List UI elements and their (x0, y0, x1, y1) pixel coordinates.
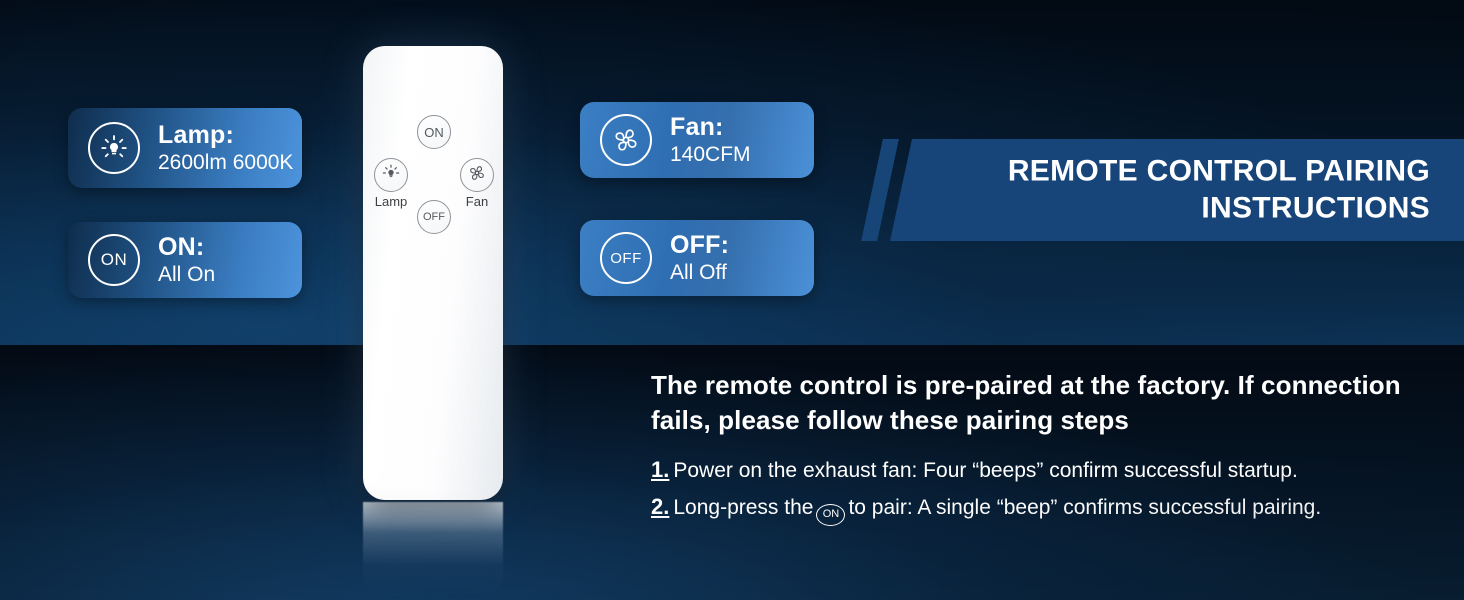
feature-badge-off-text: OFF: All Off (670, 231, 729, 285)
instructions-block: The remote control is pre-paired at the … (651, 368, 1441, 530)
feature-badge-lamp-sub: 2600lm 6000K (158, 151, 293, 175)
page-title-line-1: REMOTE CONTROL PAIRING (890, 153, 1430, 190)
remote-lamp-label: Lamp (360, 194, 422, 209)
remote-on-button[interactable]: ON (417, 115, 451, 149)
step-2-text-before: Long-press the (673, 496, 813, 519)
remote-lamp-button[interactable] (374, 158, 408, 192)
remote-off-button[interactable]: OFF (417, 200, 451, 234)
on-text-icon: ON (88, 234, 140, 286)
page-title-line-2: INSTRUCTIONS (890, 190, 1430, 227)
page-title: REMOTE CONTROL PAIRING INSTRUCTIONS (890, 153, 1430, 226)
feature-badge-fan-sub: 140CFM (670, 143, 751, 167)
remote-reflection (363, 502, 503, 598)
promo-graphic: ON Lamp Fan OFF (0, 0, 1464, 600)
feature-badge-lamp-title: Lamp: (158, 121, 293, 149)
feature-badge-off-sub: All Off (670, 261, 729, 285)
fan-blade-icon (600, 114, 652, 166)
lamp-bulb-icon (88, 122, 140, 174)
step-2-text-after: to pair: A single “beep” confirms succes… (848, 496, 1321, 519)
feature-badge-lamp: Lamp: 2600lm 6000K (68, 108, 302, 188)
feature-badge-on-text: ON: All On (158, 233, 215, 287)
remote-on-button-label: ON (424, 125, 444, 140)
fan-blade-icon (467, 163, 487, 188)
feature-badge-on-title: ON: (158, 233, 215, 261)
feature-badge-fan-title: Fan: (670, 113, 751, 141)
feature-badge-off-title: OFF: (670, 231, 729, 259)
feature-badge-fan-text: Fan: 140CFM (670, 113, 751, 167)
remote-off-button-label: OFF (423, 211, 445, 223)
instructions-steps: 1.Power on the exhaust fan: Four “beeps”… (651, 454, 1441, 525)
off-text-icon: OFF (600, 232, 652, 284)
instructions-intro: The remote control is pre-paired at the … (651, 368, 1441, 437)
lamp-bulb-icon (381, 163, 401, 188)
feature-badge-off: OFF OFF: All Off (580, 220, 814, 296)
title-banner: REMOTE CONTROL PAIRING INSTRUCTIONS (890, 139, 1464, 241)
step-1-number: 1. (651, 457, 669, 482)
feature-badge-on: ON ON: All On (68, 222, 302, 298)
feature-badge-fan: Fan: 140CFM (580, 102, 814, 178)
on-text-icon: ON (816, 504, 845, 526)
remote-fan-button[interactable] (460, 158, 494, 192)
step-2-number: 2. (651, 494, 669, 519)
remote-fan-label: Fan (448, 194, 506, 209)
feature-badge-lamp-text: Lamp: 2600lm 6000K (158, 121, 293, 175)
instruction-step-2: 2.Long-press theONto pair: A single “bee… (651, 491, 1441, 526)
step-1-text: Power on the exhaust fan: Four “beeps” c… (673, 459, 1297, 482)
feature-badge-on-sub: All On (158, 263, 215, 287)
instruction-step-1: 1.Power on the exhaust fan: Four “beeps”… (651, 454, 1441, 486)
